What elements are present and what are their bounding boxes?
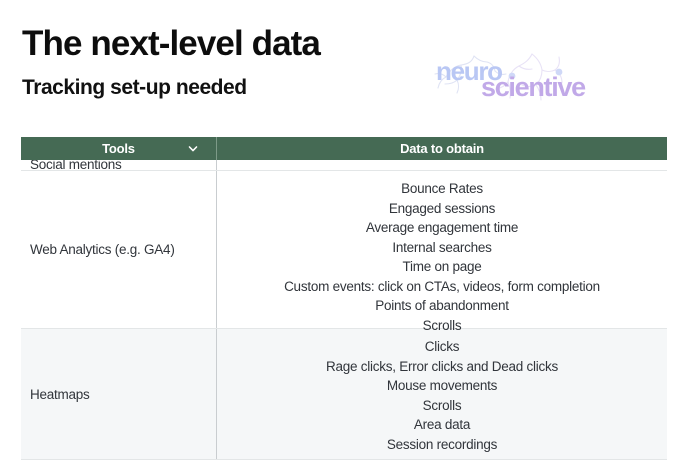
column-header-data-label: Data to obtain bbox=[400, 141, 484, 156]
data-item: Time on page bbox=[223, 257, 661, 277]
data-item: Bounce Rates bbox=[223, 179, 661, 199]
slide-canvas: The next-level data Tracking set-up need… bbox=[0, 0, 694, 460]
row-tool-name: Web Analytics (e.g. GA4) bbox=[21, 171, 217, 328]
row-data-items: Clicks Rage clicks, Error clicks and Dea… bbox=[217, 329, 667, 459]
data-item: Rage clicks, Error clicks and Dead click… bbox=[223, 357, 661, 377]
table-row[interactable]: Web Analytics (e.g. GA4) Bounce Rates En… bbox=[21, 171, 667, 329]
table-row[interactable]: Heatmaps Clicks Rage clicks, Error click… bbox=[21, 329, 667, 460]
heading-block: The next-level data Tracking set-up need… bbox=[22, 26, 422, 100]
row-data-items: Bounce Rates Engaged sessions Average en… bbox=[217, 171, 667, 328]
data-item: Internal searches bbox=[223, 238, 661, 258]
column-header-data-to-obtain[interactable]: Data to obtain bbox=[217, 137, 667, 160]
table-header-row: Tools Data to obtain bbox=[21, 137, 667, 160]
data-item: Average engagement time bbox=[223, 218, 661, 238]
data-item: Engaged sessions bbox=[223, 199, 661, 219]
table-row[interactable]: Social mentions bbox=[21, 160, 667, 171]
data-item: Scrolls bbox=[223, 396, 661, 416]
tools-data-table: Tools Data to obtain Social mentions Web… bbox=[21, 137, 667, 460]
row-tool-name: Social mentions bbox=[21, 160, 217, 170]
data-item: Area data bbox=[223, 415, 661, 435]
row-data-items bbox=[217, 160, 667, 170]
data-item: Mouse movements bbox=[223, 376, 661, 396]
data-item: Custom events: click on CTAs, videos, fo… bbox=[223, 277, 661, 297]
page-subtitle: Tracking set-up needed bbox=[22, 76, 422, 100]
data-item: Session recordings bbox=[223, 435, 661, 455]
page-title: The next-level data bbox=[22, 26, 422, 62]
data-item: Points of abandonment bbox=[223, 296, 661, 316]
table-body: Social mentions Web Analytics (e.g. GA4)… bbox=[21, 160, 667, 460]
logo-word-scientive: scientive bbox=[481, 74, 585, 101]
column-header-tools-label: Tools bbox=[102, 141, 135, 156]
data-item: Clicks bbox=[223, 337, 661, 357]
chevron-down-icon[interactable] bbox=[188, 144, 198, 154]
brand-logo: neuro scientive bbox=[428, 50, 600, 104]
column-header-tools[interactable]: Tools bbox=[21, 137, 217, 160]
row-tool-name: Heatmaps bbox=[21, 329, 217, 459]
